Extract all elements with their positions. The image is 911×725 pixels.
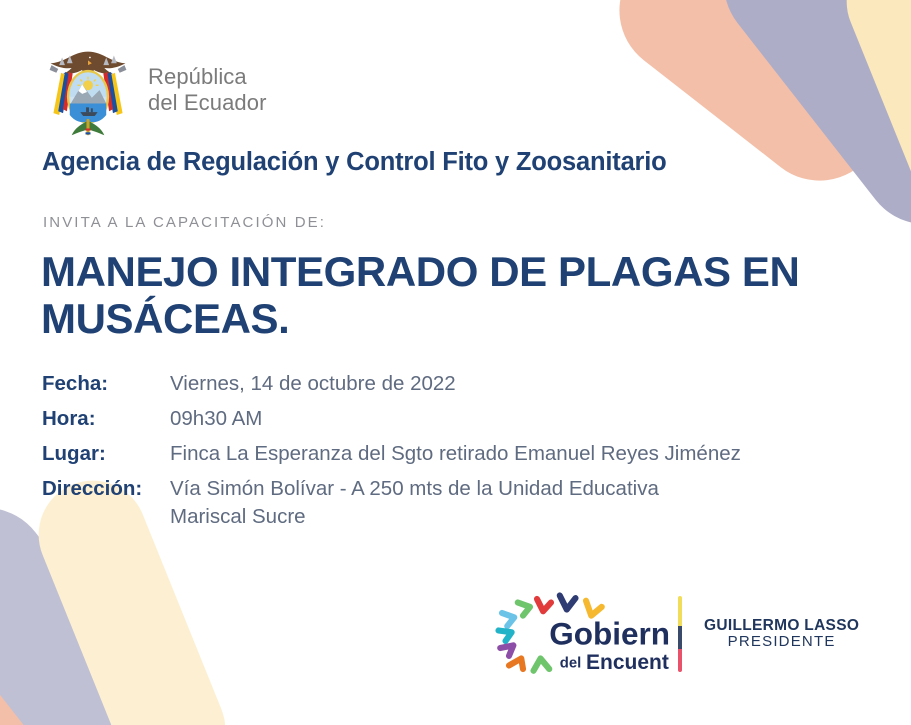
footer-logos: Gobierno del Encuentro GUILLERMO LASSO P… — [495, 590, 859, 678]
detail-row-hora: Hora: 09h30 AM — [42, 405, 882, 433]
detail-label-hora: Hora: — [42, 405, 170, 433]
brand-header: República del Ecuador — [40, 44, 267, 140]
president-name: GUILLERMO LASSO — [704, 617, 859, 634]
president-credit: GUILLERMO LASSO PRESIDENTE — [704, 617, 859, 651]
ecuador-coat-of-arms-icon — [40, 44, 136, 140]
detail-label-lugar: Lugar: — [42, 440, 170, 468]
detail-label-fecha: Fecha: — [42, 370, 170, 398]
page-title: MANEJO INTEGRADO DE PLAGAS EN MUSÁCEAS. — [41, 248, 851, 342]
agency-title: Agencia de Regulación y Control Fito y Z… — [42, 148, 667, 177]
invitation-poster: República del Ecuador Agencia de Regulac… — [0, 0, 911, 725]
detail-row-direccion: Dirección: Vía Simón Bolívar - A 250 mts… — [42, 475, 882, 531]
detail-row-lugar: Lugar: Finca La Esperanza del Sgto retir… — [42, 440, 882, 468]
svg-text:Encuentro: Encuentro — [586, 651, 670, 674]
detail-value-direccion: Vía Simón Bolívar - A 250 mts de la Unid… — [170, 475, 659, 531]
detail-label-direccion: Dirección: — [42, 475, 170, 503]
decorative-blob-purple-top-right — [698, 0, 911, 250]
svg-text:del: del — [560, 655, 581, 671]
invitation-kicker: INVITA A LA CAPACITACIÓN DE: — [43, 214, 326, 231]
detail-row-fecha: Fecha: Viernes, 14 de octubre de 2022 — [42, 370, 882, 398]
gobierno-del-encuentro-logo-icon: Gobierno del Encuentro — [495, 590, 670, 678]
detail-value-lugar: Finca La Esperanza del Sgto retirado Ema… — [170, 440, 741, 468]
ecuador-flag-divider-icon — [678, 596, 682, 672]
republic-label: República del Ecuador — [148, 64, 267, 119]
detail-value-fecha: Viernes, 14 de octubre de 2022 — [170, 370, 456, 398]
svg-text:Gobierno: Gobierno — [549, 616, 670, 652]
decorative-blob-yellow-top-right — [830, 0, 911, 267]
event-details: Fecha: Viernes, 14 de octubre de 2022 Ho… — [42, 370, 882, 537]
decorative-blob-salmon-bottom-left — [0, 524, 127, 725]
detail-value-hora: 09h30 AM — [170, 405, 262, 433]
president-role: PRESIDENTE — [704, 634, 859, 651]
